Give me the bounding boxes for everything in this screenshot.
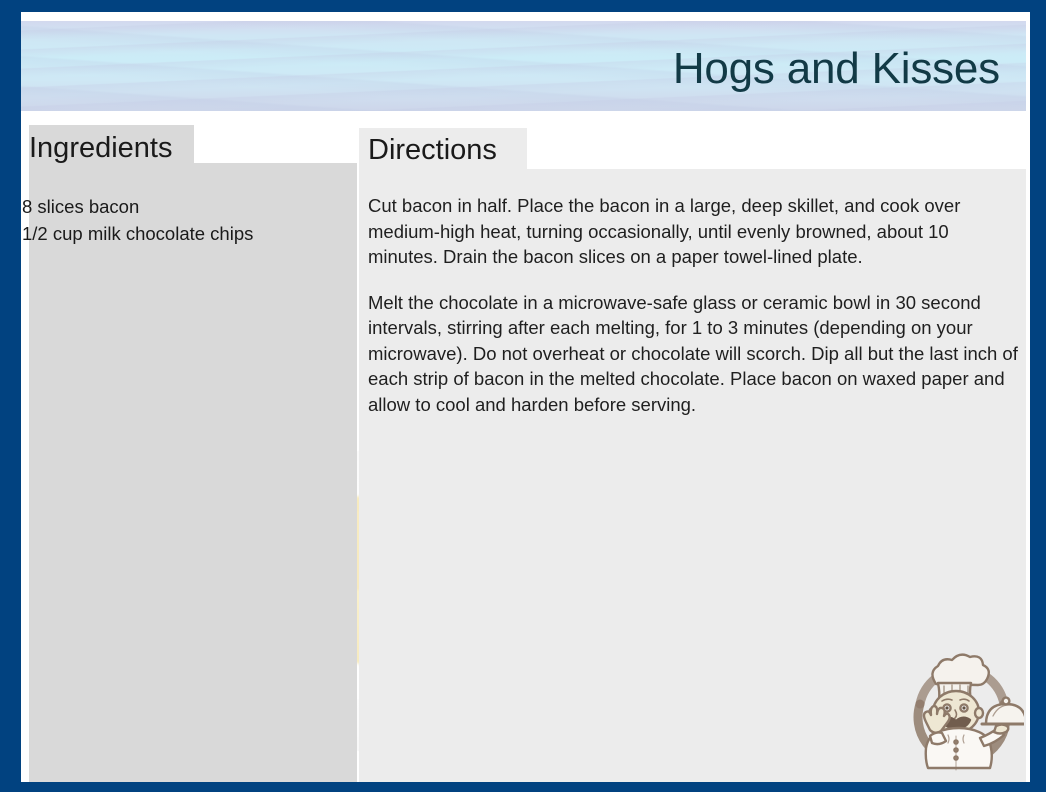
list-item: 1/2 cup milk chocolate chips [22,220,352,247]
recipe-slide: Hogs and Kisses Ingredients 8 slices bac… [0,0,1046,792]
slide-frame-left [0,0,21,792]
directions-paragraph: Melt the chocolate in a microwave-safe g… [368,290,1018,418]
slide-frame-bottom [0,782,1046,792]
slide-frame-top [0,0,1046,12]
directions-heading: Directions [368,133,497,167]
ingredients-panel [29,163,357,782]
directions-body: Cut bacon in half. Place the bacon in a … [368,193,1018,417]
chef-with-cloche-logo [900,648,1024,772]
ingredients-list: 8 slices bacon 1/2 cup milk chocolate ch… [22,193,352,247]
list-item: 8 slices bacon [22,193,352,220]
slide-frame-right [1030,0,1046,792]
title-banner: Hogs and Kisses [21,21,1026,111]
page-title: Hogs and Kisses [673,47,1000,91]
ingredients-heading: Ingredients [29,131,229,165]
directions-paragraph: Cut bacon in half. Place the bacon in a … [368,193,1018,270]
